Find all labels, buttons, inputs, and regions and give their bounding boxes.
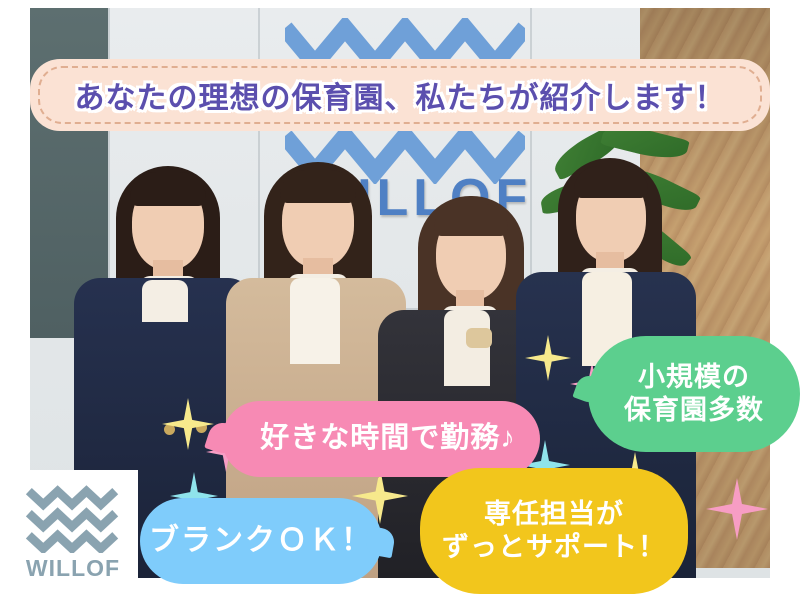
bubble-pink-line-1: 好きな時間で勤務♪ — [260, 421, 516, 456]
bubble-green-line-1: 小規模の — [638, 361, 750, 394]
bubble-yellow-line-1: 専任担当が — [484, 498, 624, 531]
willof-logo-text: WILLOF — [26, 555, 120, 582]
willof-logo-box: WILLOF — [8, 470, 138, 595]
bubble-green: 小規模の 保育園多数 — [588, 336, 800, 452]
bubble-yellow-line-2: ずっとサポート！ — [442, 531, 666, 564]
bubble-blue-line-1: ブランクＯＫ！ — [149, 523, 373, 560]
bubble-blue: ブランクＯＫ！ — [140, 498, 382, 584]
headline-text: あなたの理想の保育園、私たちが紹介します！ — [75, 73, 726, 117]
headline-banner: あなたの理想の保育園、私たちが紹介します！ — [30, 59, 770, 131]
bubble-green-line-2: 保育園多数 — [624, 394, 764, 427]
bubble-pink: 好きな時間で勤務♪ — [222, 401, 540, 477]
poster-root: WILLOF — [0, 0, 800, 600]
zigzag-wave-mark-icon — [25, 483, 121, 553]
bubble-yellow: 専任担当が ずっとサポート！ — [420, 468, 688, 594]
